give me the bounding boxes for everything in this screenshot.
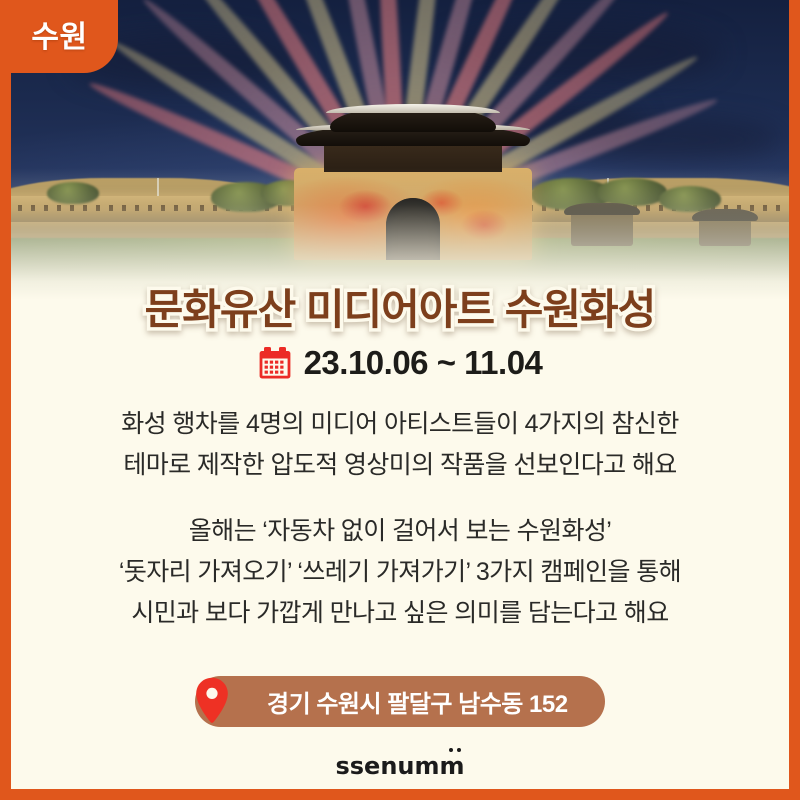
address-container: 경기 수원시 팔달구 남수동 152 (11, 676, 789, 727)
ssenumm-logo-text: ssenumm (335, 752, 464, 780)
title-container: 문화유산 미디어아트 수원화성 (11, 276, 789, 337)
address-pill[interactable]: 경기 수원시 팔달구 남수동 152 (195, 676, 605, 727)
event-date-text: 23.10.06 ~ 11.04 (304, 344, 543, 382)
footer: ssenumm (11, 752, 789, 780)
card-inner: 수원 문화유산 미디어아트 수원화성 (11, 0, 789, 789)
pavilion-shape (571, 212, 633, 246)
gate-roof-upper (330, 108, 496, 132)
hwaseong-gate (288, 108, 538, 260)
paragraph-line: 올해는 ‘자동차 없이 걸어서 보는 수원화성’ (11, 511, 789, 552)
address-text: 경기 수원시 팔달구 남수동 152 (267, 684, 568, 719)
description-block: 화성 행차를 4명의 미디어 아티스트들이 4가지의 참신한 테마로 제작한 압… (11, 404, 789, 659)
tree-shape (47, 182, 99, 204)
page-title: 문화유산 미디어아트 수원화성 (145, 276, 656, 337)
city-badge-label: 수원 (31, 12, 97, 62)
paragraph-line: ‘돗자리 가져오기’ ‘쓰레기 가져가기’ 3가지 캠페인을 통해 (11, 552, 789, 593)
gate-archway (386, 198, 440, 260)
promo-card: 수원 문화유산 미디어아트 수원화성 (0, 0, 800, 800)
tree-shape (659, 186, 721, 212)
tree-shape (597, 178, 667, 206)
calendar-icon (258, 347, 292, 380)
paragraph-line: 테마로 제작한 압도적 영상미의 작품을 선보인다고 해요 (11, 445, 789, 486)
ssenumm-logo: ssenumm (335, 752, 464, 780)
hero-photo (11, 0, 789, 300)
wall-flag (157, 178, 159, 196)
event-date-row: 23.10.06 ~ 11.04 (11, 344, 789, 382)
paragraph-line: 시민과 보다 가깝게 만나고 싶은 의미를 담는다고 해요 (11, 593, 789, 634)
pavilion-shape (699, 218, 751, 246)
paragraph-line: 화성 행차를 4명의 미디어 아티스트들이 4가지의 참신한 (11, 404, 789, 445)
city-badge: 수원 (11, 0, 118, 73)
umlaut-dots-icon (449, 748, 462, 753)
